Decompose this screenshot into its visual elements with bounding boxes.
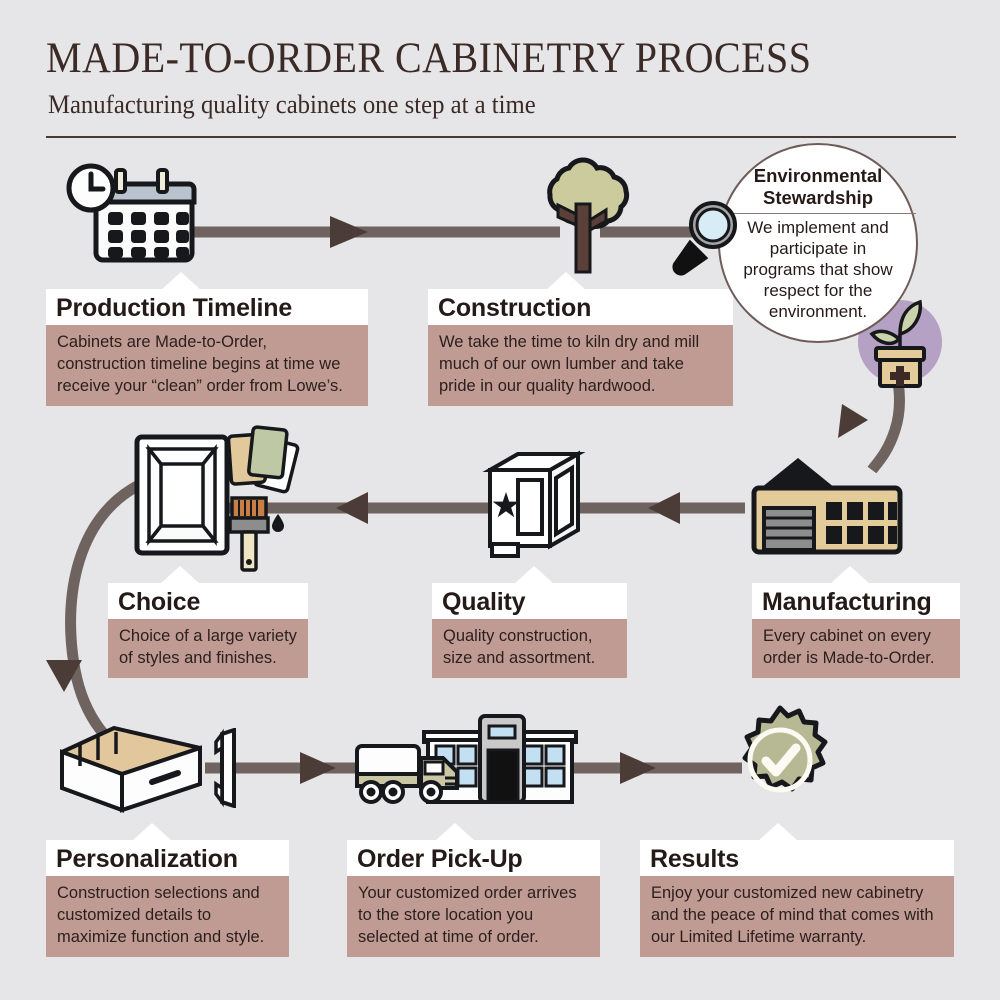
step-body: Your customized order arrives to the sto… (347, 876, 600, 957)
paintbrush-icon (224, 494, 286, 574)
magnifier-icon (668, 196, 744, 278)
arrow-row3-b (620, 752, 656, 784)
step-card-manufacturing[interactable]: Manufacturing Every cabinet on every ord… (752, 583, 960, 678)
step-title: Construction (428, 289, 733, 325)
check-badge-icon (724, 704, 836, 816)
color-swatches-icon (224, 424, 310, 496)
cabinet-icon (474, 442, 594, 560)
step-title: Order Pick-Up (347, 840, 600, 876)
callout-body: We implement and participate in programs… (734, 217, 902, 322)
arrow-row3-a (300, 752, 336, 784)
arrow-curve-right (838, 404, 868, 438)
pull-handle-icon (212, 728, 248, 808)
step-card-quality[interactable]: Quality Quality construction, size and a… (432, 583, 627, 678)
step-title: Personalization (46, 840, 289, 876)
step-body: Choice of a large variety of styles and … (108, 619, 308, 678)
callout-title: Environmental Stewardship (733, 165, 903, 209)
step-card-personalization[interactable]: Personalization Construction selections … (46, 840, 289, 957)
step-card-results[interactable]: Results Enjoy your customized new cabine… (640, 840, 954, 957)
step-body: Every cabinet on every order is Made-to-… (752, 619, 960, 678)
arrow-row2-b (336, 492, 368, 524)
step-body: Cabinets are Made-to-Order, construction… (46, 325, 368, 406)
step-body: Enjoy your customized new cabinetry and … (640, 876, 954, 957)
calendar-clock-icon (58, 158, 208, 273)
step-body: Quality construction, size and assortmen… (432, 619, 627, 678)
factory-icon (742, 452, 912, 560)
infographic-canvas: MADE-TO-ORDER CABINETRY PROCESS Manufact… (0, 0, 1000, 1000)
callout-divider (720, 213, 916, 214)
environmental-stewardship-callout: Environmental Stewardship We implement a… (718, 143, 918, 343)
step-card-choice[interactable]: Choice Choice of a large variety of styl… (108, 583, 308, 678)
arrow-row2-a (648, 492, 680, 524)
step-body: Construction selections and customized d… (46, 876, 289, 957)
step-title: Production Timeline (46, 289, 368, 325)
step-card-construction[interactable]: Construction We take the time to kiln dr… (428, 289, 733, 406)
arrow-row1 (330, 216, 368, 248)
drawer-icon (56, 722, 206, 814)
step-card-order-pick-up[interactable]: Order Pick-Up Your customized order arri… (347, 840, 600, 957)
step-title: Results (640, 840, 954, 876)
step-body: We take the time to kiln dry and mill mu… (428, 325, 733, 406)
door-frame-icon (132, 432, 232, 558)
delivery-truck-icon (355, 740, 465, 810)
step-card-production-timeline[interactable]: Production Timeline Cabinets are Made-to… (46, 289, 368, 406)
step-title: Manufacturing (752, 583, 960, 619)
step-title: Quality (432, 583, 627, 619)
step-title: Choice (108, 583, 308, 619)
tree-icon (528, 152, 638, 277)
